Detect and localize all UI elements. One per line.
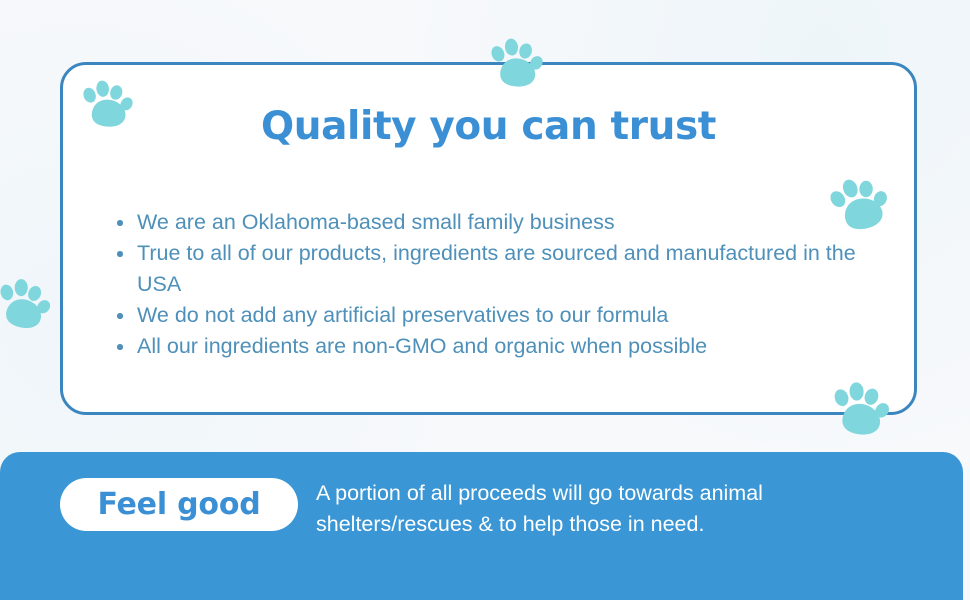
paw-print-icon xyxy=(79,80,135,130)
promo-graphic: Quality you can trust We are an Oklahoma… xyxy=(0,0,970,600)
paw-print-icon xyxy=(487,38,545,90)
paw-print-icon xyxy=(829,177,891,233)
feel-good-badge: Feel good xyxy=(60,478,298,531)
paw-print-icon xyxy=(0,279,52,331)
feel-good-banner: Feel good A portion of all proceeds will… xyxy=(0,452,963,600)
trust-bullet-list: We are an Oklahoma-based small family bu… xyxy=(109,207,884,362)
list-item: We do not add any artificial preservativ… xyxy=(109,300,884,331)
list-item: We are an Oklahoma-based small family bu… xyxy=(109,207,884,238)
list-item: All our ingredients are non-GMO and orga… xyxy=(109,331,884,362)
page-title: Quality you can trust xyxy=(63,104,914,149)
list-item: True to all of our products, ingredients… xyxy=(109,238,884,300)
feel-good-message-line-2: shelters/rescues & to help those in need… xyxy=(316,509,916,540)
quality-trust-card: Quality you can trust We are an Oklahoma… xyxy=(60,62,917,415)
feel-good-message-line-1: A portion of all proceeds will go toward… xyxy=(316,478,916,509)
status-badge: Feel good xyxy=(97,487,260,522)
paw-print-icon xyxy=(829,382,891,438)
feel-good-message: A portion of all proceeds will go toward… xyxy=(316,478,916,540)
